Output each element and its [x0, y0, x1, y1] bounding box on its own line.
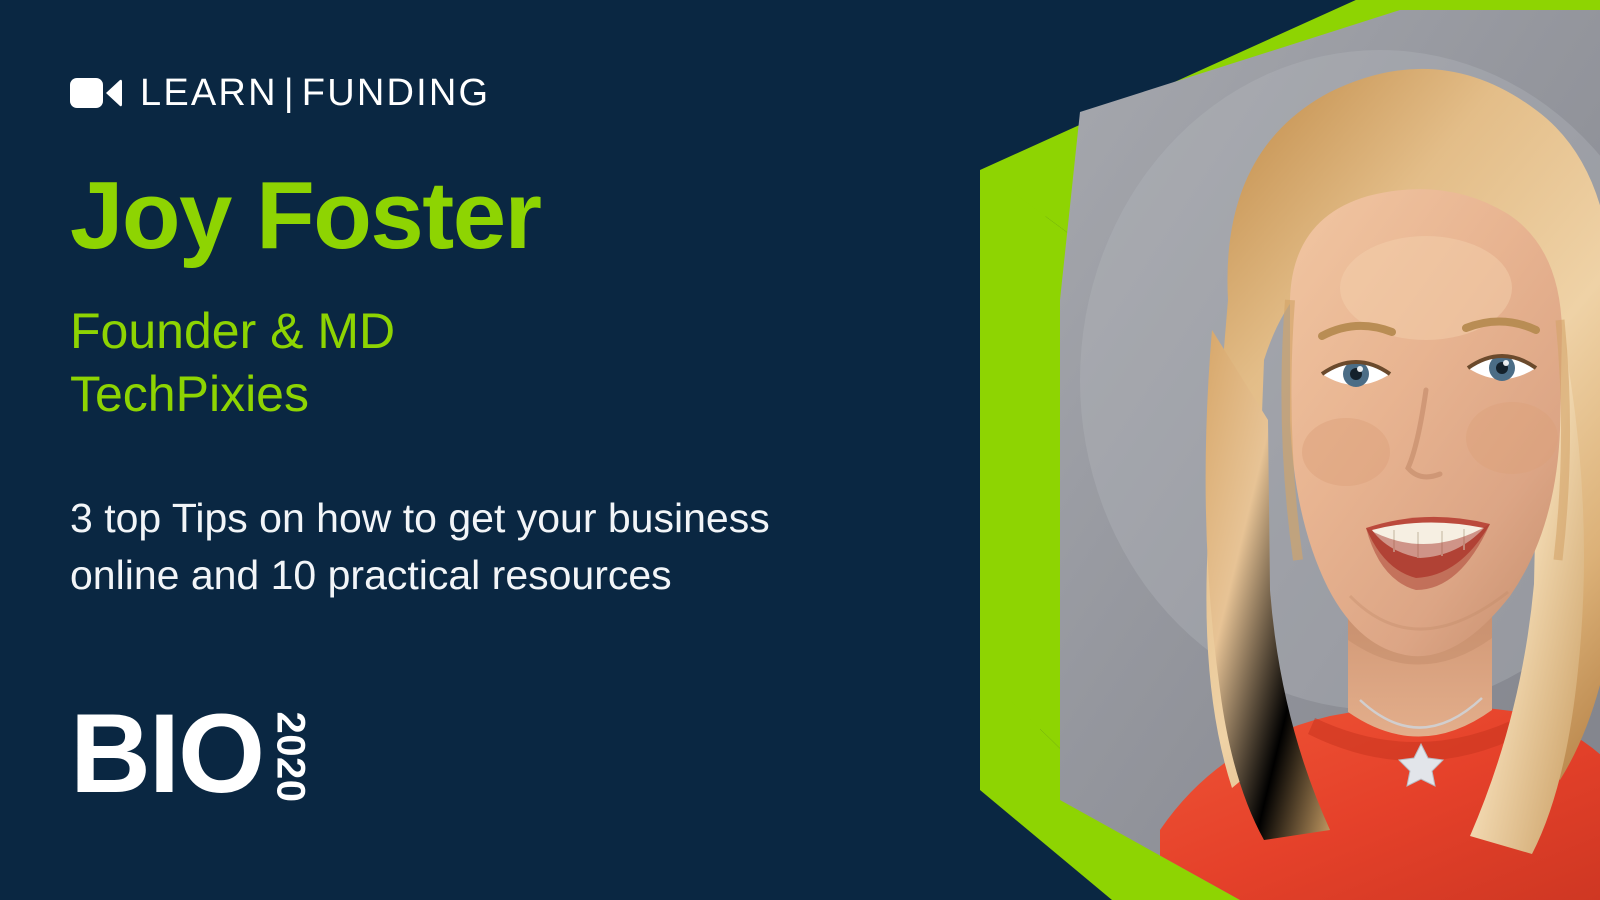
- portrait-artwork: [860, 0, 1600, 900]
- header: LEARN|FUNDING: [70, 68, 490, 118]
- bio-year: 2020: [268, 712, 313, 803]
- bio-wordmark: BIO: [70, 705, 263, 804]
- video-camera-icon: [70, 76, 122, 110]
- speaker-role-title: Founder & MD: [70, 300, 395, 363]
- portrait-photo: [1010, 0, 1600, 900]
- header-label: LEARN|FUNDING: [140, 72, 490, 115]
- speaker-company: TechPixies: [70, 363, 395, 426]
- header-separator: |: [278, 72, 302, 114]
- speaker-name: Joy Foster: [70, 168, 540, 264]
- session-description: 3 top Tips on how to get your business o…: [70, 490, 770, 603]
- header-label-secondary: FUNDING: [302, 72, 491, 114]
- speaker-card: LEARN|FUNDING Joy Foster Founder & MD Te…: [0, 0, 1600, 900]
- bio-year-wrap: 2020: [267, 705, 313, 809]
- bio-logo: BIO 2020: [70, 705, 313, 809]
- portrait-svg: [860, 0, 1600, 900]
- header-label-primary: LEARN: [140, 72, 278, 114]
- speaker-role: Founder & MD TechPixies: [70, 300, 395, 426]
